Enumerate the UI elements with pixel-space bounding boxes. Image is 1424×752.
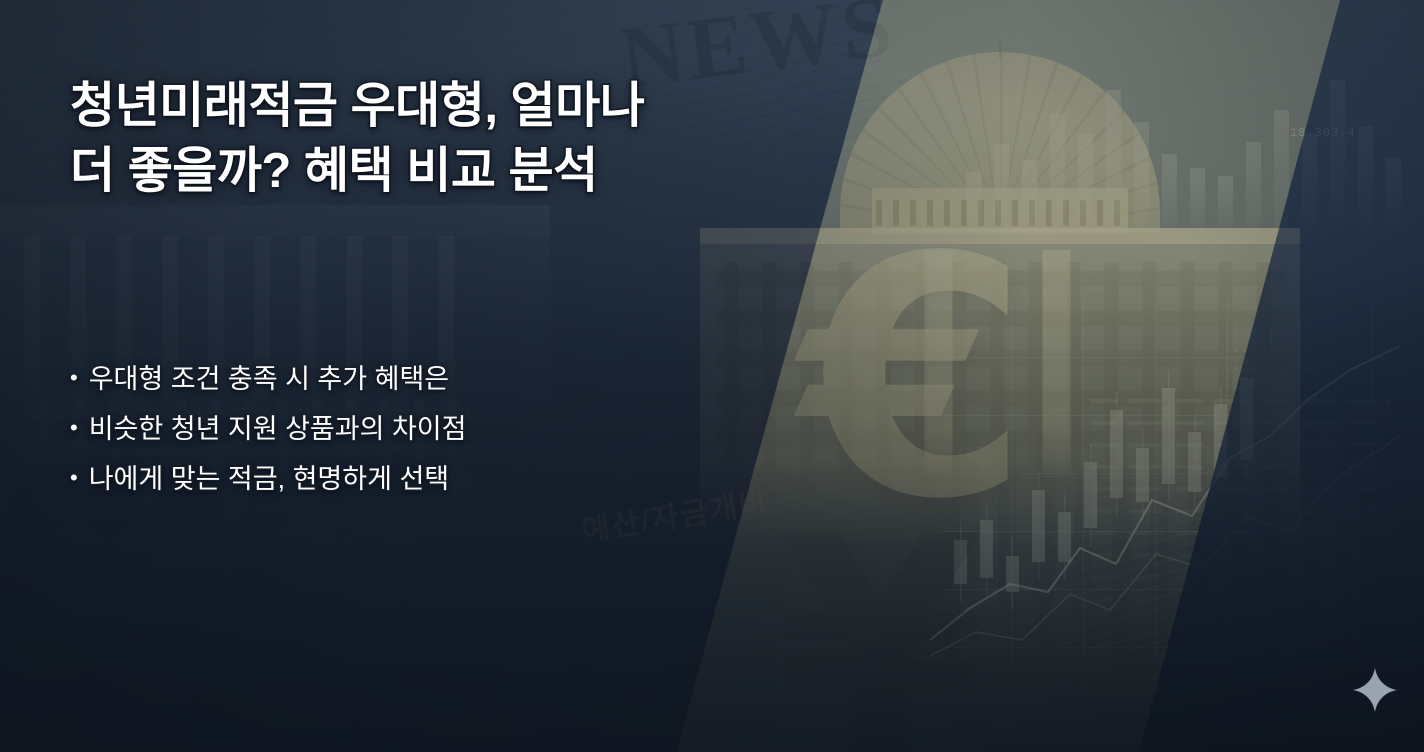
bullet-dot-icon: • xyxy=(70,367,78,389)
bullet-text: 비슷한 청년 지원 상품과의 차이점 xyxy=(89,412,467,446)
thumbnail-content: 청년미래적금 우대형, 얼마나 더 좋을까? 혜택 비교 분석 • 우대형 조건… xyxy=(0,0,1424,752)
thumbnail-card: NEWS xyxy=(0,0,1424,752)
bullet-list: • 우대형 조건 충족 시 추가 혜택은 • 비슷한 청년 지원 상품과의 차이… xyxy=(70,362,466,512)
list-item: • 나에게 맞는 적금, 현명하게 선택 xyxy=(70,462,466,496)
bullet-dot-icon: • xyxy=(70,467,78,489)
bullet-text: 나에게 맞는 적금, 현명하게 선택 xyxy=(89,462,449,496)
bullet-dot-icon: • xyxy=(70,417,78,439)
sparkle-icon xyxy=(1352,667,1398,713)
thumbnail-title: 청년미래적금 우대형, 얼마나 더 좋을까? 혜택 비교 분석 xyxy=(70,74,930,203)
list-item: • 비슷한 청년 지원 상품과의 차이점 xyxy=(70,412,466,446)
list-item: • 우대형 조건 충족 시 추가 혜택은 xyxy=(70,362,466,396)
bullet-text: 우대형 조건 충족 시 추가 혜택은 xyxy=(89,362,449,396)
